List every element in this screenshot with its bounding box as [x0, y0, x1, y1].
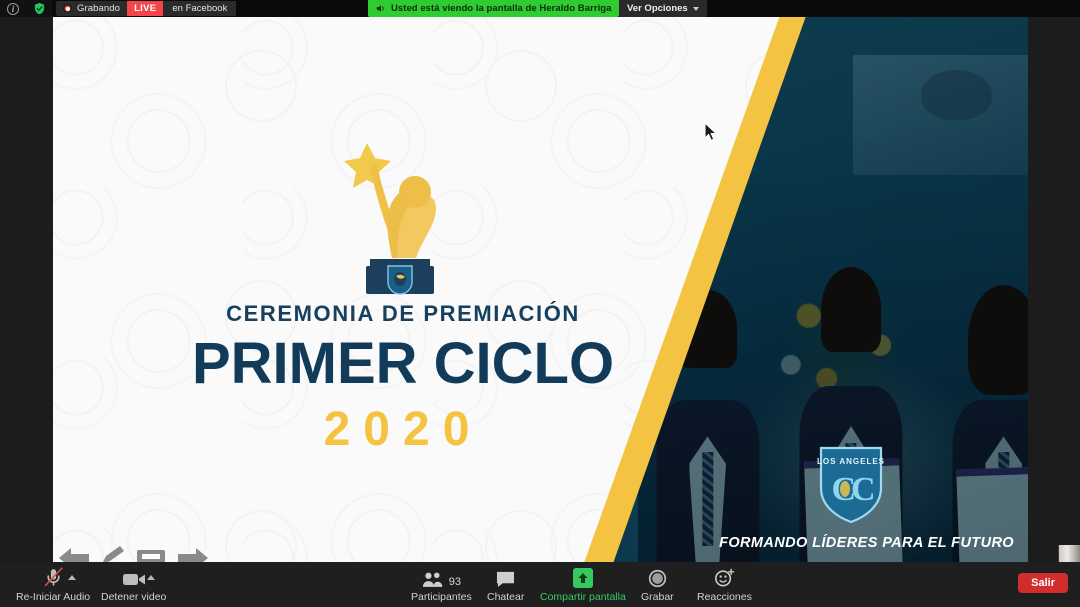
participants-label: Participantes	[411, 591, 472, 603]
participants-button[interactable]: 93 Participantes	[411, 566, 472, 603]
pencil-icon[interactable]	[100, 544, 126, 562]
top-left-controls: i Grabando LIVE en Facebook	[0, 0, 236, 17]
smiley-plus-icon	[714, 566, 735, 588]
record-button[interactable]: Grabar	[641, 566, 674, 603]
trophy-star-icon	[336, 130, 456, 300]
audio-button[interactable]: Re-Iniciar Audio	[16, 566, 90, 603]
school-shield-icon: LOS ANGELES CC	[815, 442, 887, 524]
undo-arrow-icon[interactable]	[57, 544, 91, 562]
video-button[interactable]: Detener video	[101, 566, 166, 603]
recording-label: Grabando	[77, 3, 127, 14]
participants-count: 93	[449, 576, 461, 588]
leave-meeting-button[interactable]: Salir	[1018, 573, 1068, 593]
meeting-info-button[interactable]: i	[0, 0, 26, 17]
view-options-label: Ver Opciones	[627, 3, 688, 14]
recording-indicator[interactable]: Grabando	[56, 1, 127, 16]
redo-arrow-icon[interactable]	[176, 544, 210, 562]
audio-options-caret[interactable]	[68, 575, 76, 580]
microphone-muted-icon	[43, 566, 64, 588]
chevron-down-icon	[693, 7, 699, 11]
view-options-button[interactable]: Ver Opciones	[619, 0, 707, 17]
video-options-caret[interactable]	[147, 575, 155, 580]
meeting-controls-toolbar: Re-Iniciar Audio Detener video 93	[0, 562, 1080, 607]
live-badge: LIVE	[127, 1, 163, 16]
screen-share-notice-text: Usted está viendo la pantalla de Heraldo…	[391, 3, 611, 14]
reactions-label: Reacciones	[697, 591, 752, 603]
annotation-toolbar[interactable]	[57, 544, 210, 562]
info-circle-icon: i	[7, 3, 19, 15]
reactions-button[interactable]: Reacciones	[697, 566, 752, 603]
svg-text:CC: CC	[831, 471, 873, 508]
participants-icon: 93	[422, 566, 461, 588]
svg-text:LOS ANGELES: LOS ANGELES	[817, 457, 885, 466]
share-screen-label: Compartir pantalla	[540, 591, 626, 603]
top-status-bar: i Grabando LIVE en Facebook	[0, 0, 1080, 17]
presentation-slide: CEREMONIA DE PREMIACIÓN PRIMER CICLO 202…	[53, 17, 1028, 562]
shared-screen-area[interactable]: CEREMONIA DE PREMIACIÓN PRIMER CICLO 202…	[53, 17, 1028, 562]
slide-subtitle: CEREMONIA DE PREMIACIÓN	[53, 301, 753, 327]
chat-bubble-icon	[495, 566, 516, 588]
eraser-icon[interactable]	[135, 544, 167, 562]
streaming-platform-label: en Facebook	[163, 1, 236, 16]
recording-dot-icon	[63, 4, 72, 13]
chat-label: Chatear	[487, 591, 524, 603]
chat-button[interactable]: Chatear	[487, 566, 524, 603]
encryption-status-button[interactable]	[26, 0, 52, 17]
mouse-cursor	[704, 122, 718, 147]
screen-share-notice: Usted está viendo la pantalla de Heraldo…	[368, 0, 619, 17]
audio-label: Re-Iniciar Audio	[16, 591, 90, 603]
share-screen-up-arrow-icon	[573, 566, 593, 588]
slide-tagline: FORMANDO LÍDERES PARA EL FUTURO	[719, 535, 1014, 551]
speaker-icon	[375, 3, 386, 14]
share-screen-button[interactable]: Compartir pantalla	[540, 566, 626, 603]
zoom-meeting-window: i Grabando LIVE en Facebook	[0, 0, 1080, 607]
record-circle-icon	[648, 566, 667, 588]
green-shield-check-icon	[33, 2, 46, 15]
slide-title: PRIMER CICLO	[53, 335, 753, 393]
video-label: Detener video	[101, 591, 166, 603]
slide-year: 2020	[53, 402, 753, 457]
record-label: Grabar	[641, 591, 674, 603]
video-camera-icon	[122, 566, 146, 588]
